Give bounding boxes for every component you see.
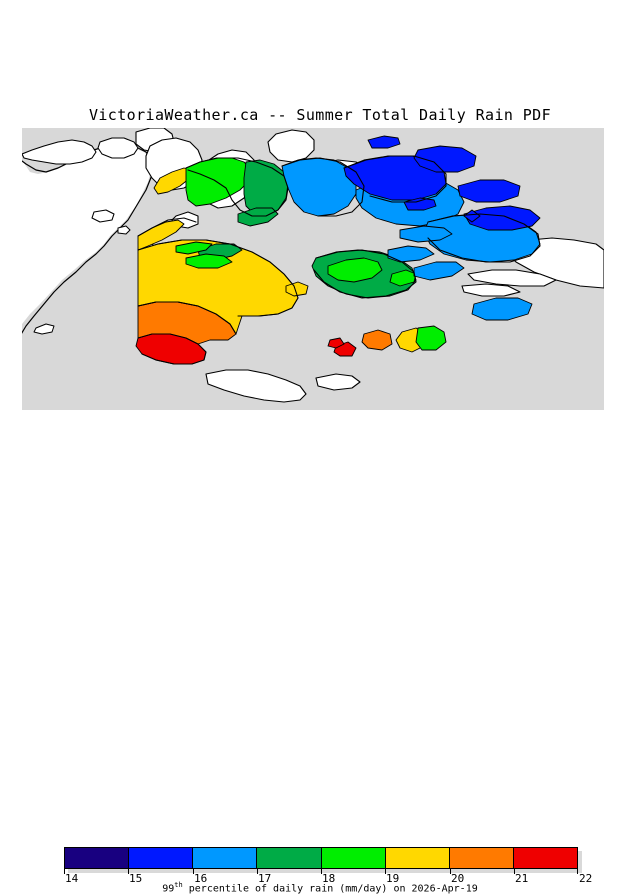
figure-title: VictoriaWeather.ca -- Summer Total Daily… [0, 106, 640, 124]
caption-prefix: 99 [162, 883, 174, 894]
colorbar-strip [64, 847, 578, 869]
colorbar-segment-19-20 [386, 848, 450, 868]
colorbar-segment-17-18 [257, 848, 321, 868]
map-svg [0, 128, 640, 410]
sea-layer [0, 128, 604, 410]
caption-superscript: th [174, 881, 182, 889]
colorbar: 141516171819202122 99th percentile of da… [0, 420, 640, 480]
colorbar-segment-15-16 [129, 848, 193, 868]
island-orange-small [362, 330, 392, 350]
map-figure: VictoriaWeather.ca -- Summer Total Daily… [0, 0, 640, 480]
colorbar-segment-14-15 [65, 848, 129, 868]
colorbar-segment-21-22 [514, 848, 577, 868]
region-blue-east-2 [458, 180, 520, 202]
colorbar-segment-18-19 [322, 848, 386, 868]
colorbar-caption: 99th percentile of daily rain (mm/day) o… [0, 881, 640, 894]
map-canvas [0, 128, 640, 410]
colorbar-segment-16-17 [193, 848, 257, 868]
colorbar-segment-20-21 [450, 848, 514, 868]
caption-rest: percentile of daily rain (mm/day) on 202… [183, 883, 478, 894]
